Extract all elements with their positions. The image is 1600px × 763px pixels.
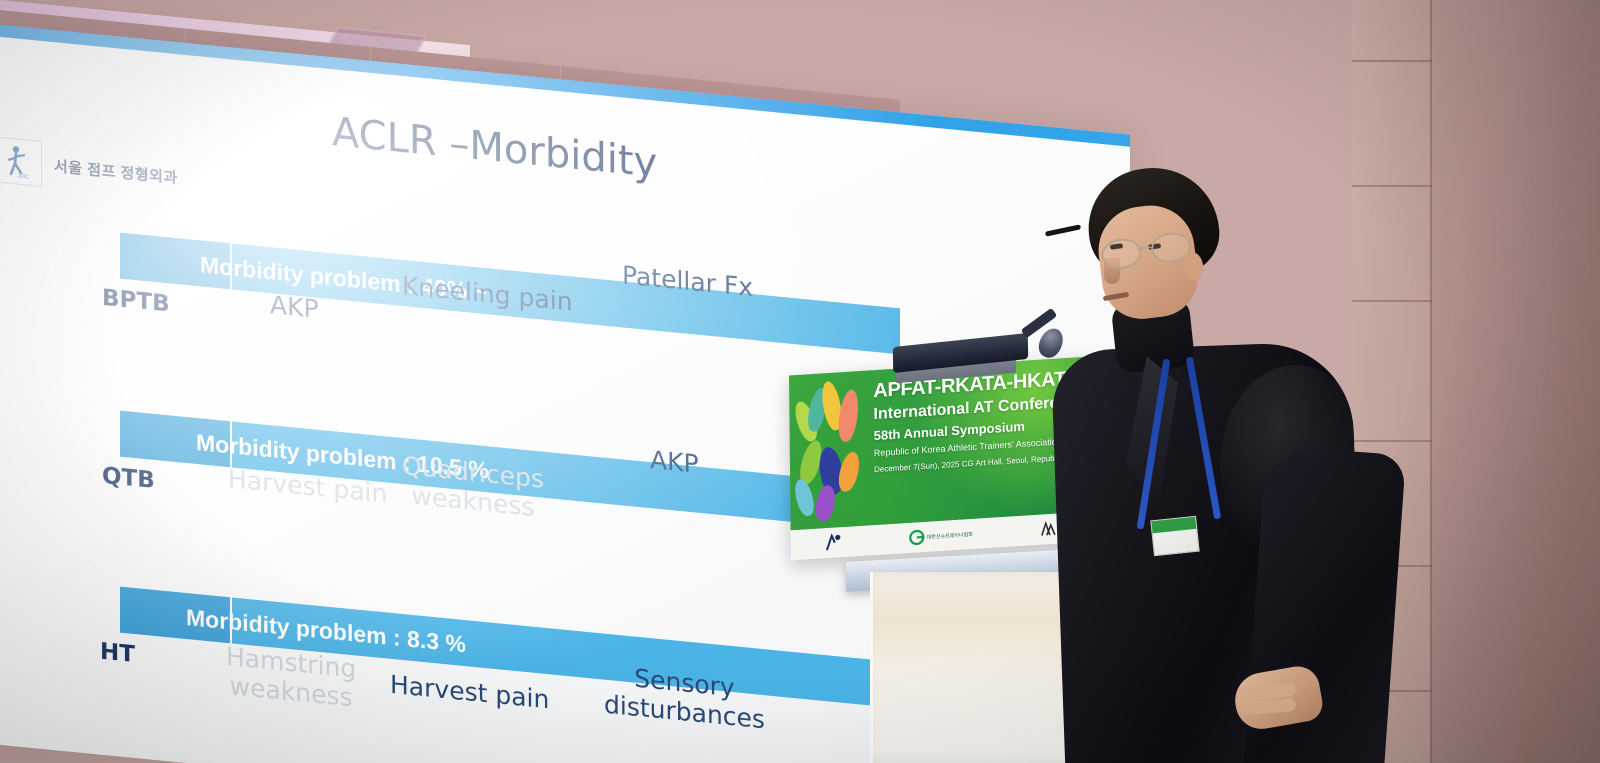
slide-top-accent-bar: [0, 22, 1130, 147]
clinic-logo: JMC 서울 점프 정형외과: [0, 137, 178, 201]
runner-graphic: [836, 389, 861, 442]
item-ht-1: Harvest pain: [390, 671, 549, 715]
runner-figure-icon: JMC: [0, 137, 42, 187]
item-qtb-1: Quadriceps weakness: [402, 452, 544, 523]
slide-title: ACLR –Morbidity: [332, 109, 657, 187]
sponsor-label-kata: 대한선수트레이너협회: [927, 530, 973, 540]
runner-graphic: [836, 450, 863, 493]
sponsor-logo-kata: 대한선수트레이너협회: [909, 526, 973, 546]
category-bptb: BPTB: [102, 285, 170, 318]
speaker: [1040, 150, 1420, 763]
clinic-logo-text: 서울 점프 정형외과: [54, 155, 178, 188]
runner-graphic: [792, 477, 817, 518]
item-qtb-2: AKP: [650, 446, 699, 479]
svg-text:JMC: JMC: [17, 174, 30, 181]
conference-photo: JMC 서울 점프 정형외과 ACLR –Morbidity Morbidity…: [0, 0, 1600, 763]
item-ht-0: Hamstring weakness: [226, 643, 356, 713]
item-bptb-0: AKP: [270, 291, 319, 324]
eyebrow: [1045, 224, 1081, 236]
runner-graphic: [814, 484, 838, 522]
category-ht: HT: [100, 639, 135, 668]
sponsor-logo-apfat: [823, 533, 843, 552]
category-qtb: QTB: [102, 463, 155, 494]
name-badge: [1150, 516, 1200, 557]
